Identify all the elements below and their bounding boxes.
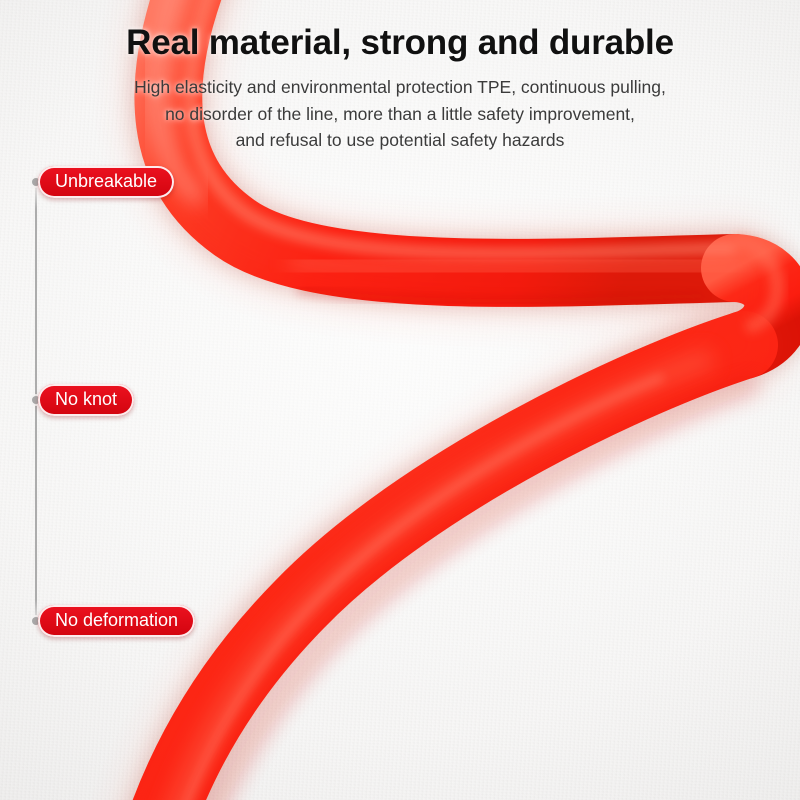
page-subtitle: High elasticity and environmental protec… <box>80 74 720 154</box>
feature-badge-no-knot: No knot <box>38 384 134 416</box>
subtitle-line-2: no disorder of the line, more than a lit… <box>80 101 720 128</box>
product-feature-banner: Real material, strong and durable High e… <box>0 0 800 800</box>
feature-badge-label-3: No deformation <box>55 611 178 629</box>
feature-badge-no-deformation: No deformation <box>38 605 195 637</box>
feature-badge-unbreakable: Unbreakable <box>38 166 174 198</box>
feature-badge-label-2: No knot <box>55 390 117 408</box>
subtitle-line-1: High elasticity and environmental protec… <box>80 74 720 101</box>
headings-block: Real material, strong and durable High e… <box>0 0 800 154</box>
subtitle-line-3: and refusal to use potential safety haza… <box>80 127 720 154</box>
feature-badge-label-1: Unbreakable <box>55 172 157 190</box>
feature-rail-line <box>35 182 37 626</box>
page-title: Real material, strong and durable <box>0 0 800 62</box>
